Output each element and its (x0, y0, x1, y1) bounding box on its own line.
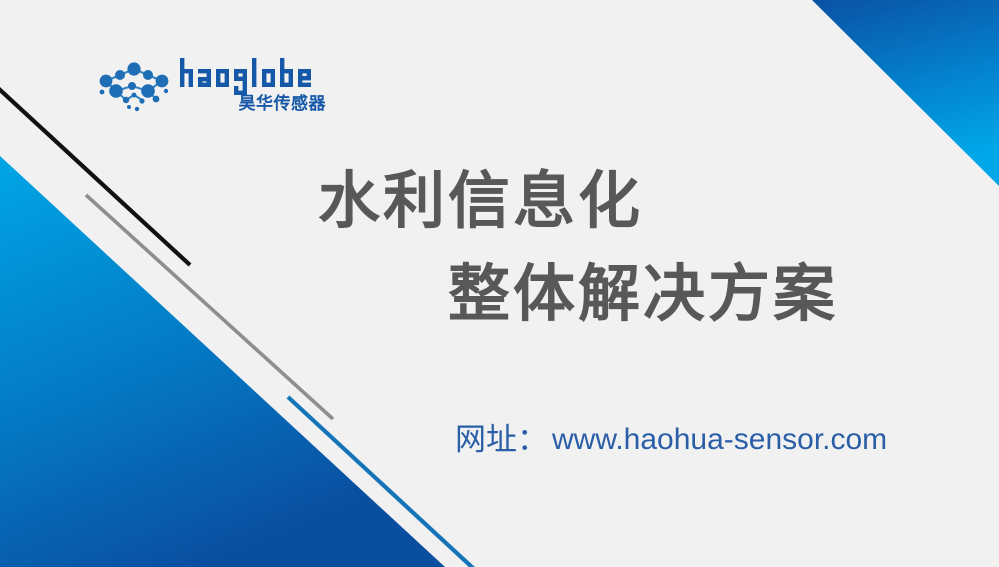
presentation-title-slide: 昊华传感器 水利信息化 整体解决方案 网址：www.haohua-sensor.… (0, 0, 999, 567)
website-url-value[interactable]: www.haohua-sensor.com (552, 423, 887, 456)
slide-title-line-2: 整体解决方案 (448, 258, 838, 330)
slide-title-group: 水利信息化 整体解决方案 (0, 0, 999, 567)
website-url-label: 网址： (455, 422, 548, 458)
website-url-row: 网址：www.haohua-sensor.com (455, 420, 887, 460)
slide-title-line-1: 水利信息化 (318, 165, 643, 237)
